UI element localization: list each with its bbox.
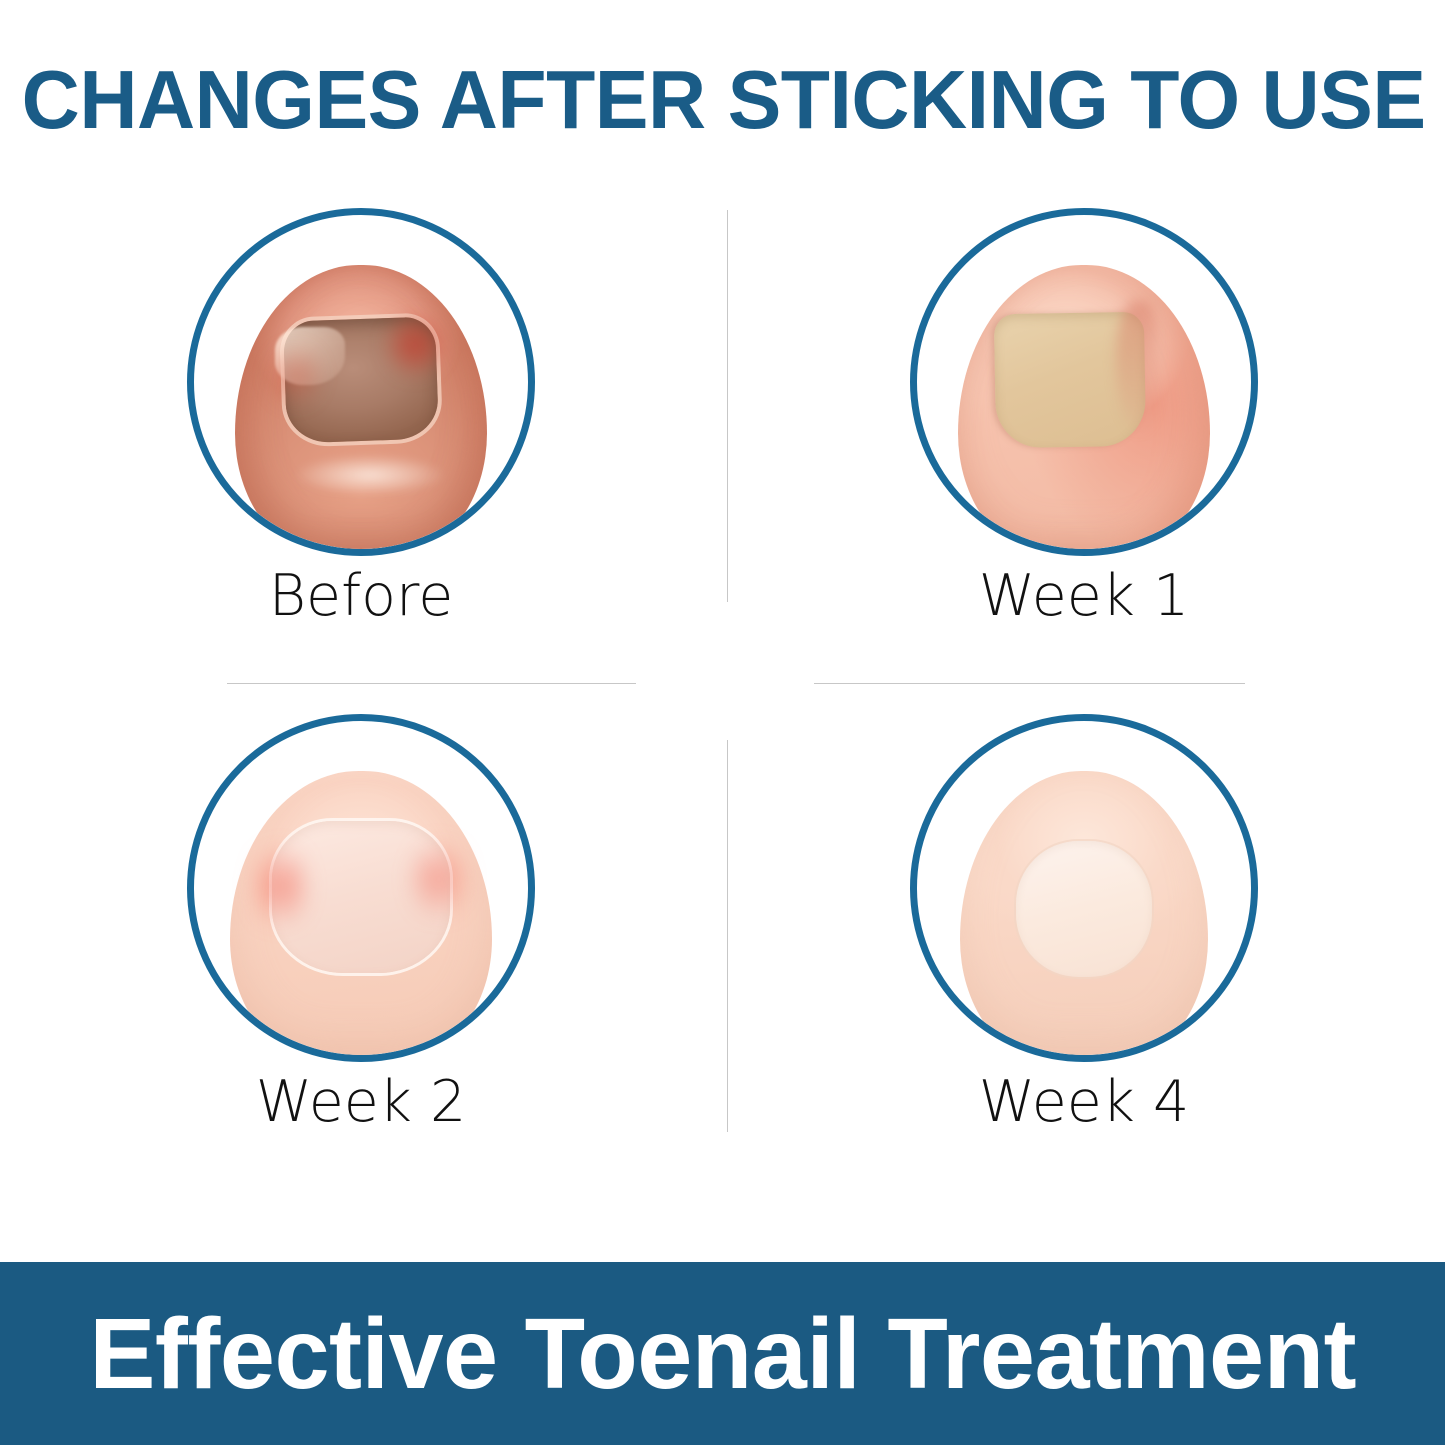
divider-horizontal-right <box>814 683 1245 684</box>
nail-plate <box>1016 841 1152 977</box>
cell-label-before: Before <box>0 568 722 625</box>
cell-label-week-4: Week 4 <box>723 1074 1445 1131</box>
toe-illustration <box>235 265 487 549</box>
inflammation-left <box>269 339 321 413</box>
photo-clip <box>917 215 1251 549</box>
page-title: CHANGES AFTER STICKING TO USE <box>22 58 1424 141</box>
toenail-week-2-photo <box>187 714 535 1062</box>
cell-label-week-2: Week 2 <box>0 1074 722 1131</box>
toenail-week-4-photo <box>910 714 1258 1062</box>
photo-clip <box>194 721 528 1055</box>
toe-illustration <box>230 771 492 1055</box>
nail-fold-inflammation <box>1116 301 1156 431</box>
photo-clip <box>194 215 528 549</box>
inflammation-right <box>387 315 443 375</box>
inflammation-left <box>254 833 306 939</box>
toe-illustration <box>958 265 1210 549</box>
inflammation-right <box>412 829 466 929</box>
toenail-week-1-photo <box>910 208 1258 556</box>
photo-clip <box>917 721 1251 1055</box>
comparison-cell-before: Before <box>0 190 722 695</box>
divider-vertical-bottom <box>727 740 728 1132</box>
comparison-cell-week-1: Week 1 <box>723 190 1445 695</box>
bottom-banner: Effective Toenail Treatment <box>0 1262 1445 1445</box>
comparison-cell-week-4: Week 4 <box>723 696 1445 1201</box>
divider-horizontal-left <box>227 683 636 684</box>
cell-label-week-1: Week 1 <box>723 568 1445 625</box>
toe-illustration <box>960 771 1208 1055</box>
toenail-before-photo <box>187 208 535 556</box>
comparison-grid: Before Week 1 Week 2 <box>0 190 1445 1200</box>
skin-highlight <box>295 455 445 495</box>
bottom-banner-text: Effective Toenail Treatment <box>89 1304 1356 1404</box>
divider-vertical-top <box>727 210 728 602</box>
comparison-cell-week-2: Week 2 <box>0 696 722 1201</box>
